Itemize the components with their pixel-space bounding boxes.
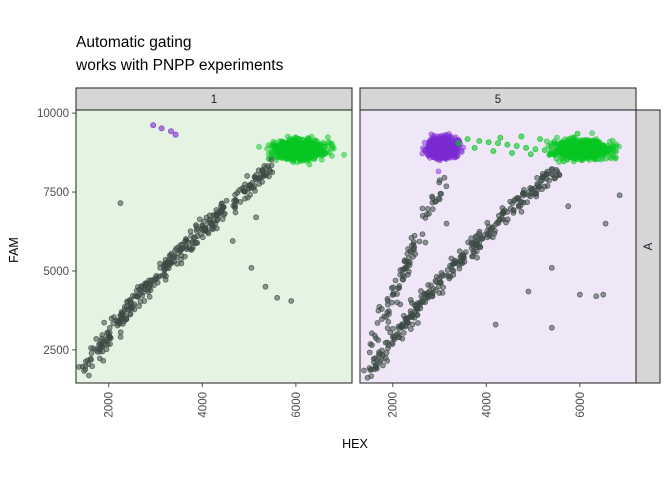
x-tick-label-2000-panel-5: 2000 — [388, 392, 400, 418]
x-tick-label-6000-panel-1: 6000 — [291, 392, 303, 418]
plot-title-line-1: Automatic gating — [76, 34, 191, 51]
y-axis-label: FAM — [7, 237, 21, 263]
facet-strip-label-A: A — [643, 242, 655, 250]
y-tick-label-5000: 5000 — [43, 266, 69, 278]
x-axis-label: HEX — [342, 437, 368, 451]
scatter-plot-figure: Automatic gating works with PNPP experim… — [0, 0, 672, 480]
facet-strip-label-5: 5 — [495, 94, 501, 106]
y-tick-label-7500: 7500 — [43, 187, 69, 199]
facet-strip-label-1: 1 — [211, 94, 217, 106]
y-tick-label-2500: 2500 — [43, 345, 69, 357]
x-tick-label-2000-panel-1: 2000 — [104, 392, 116, 418]
x-tick-label-6000-panel-5: 6000 — [575, 392, 587, 418]
x-tick-label-4000-panel-5: 4000 — [481, 392, 493, 418]
plot-title-line-2: works with PNPP experiments — [75, 57, 284, 74]
y-tick-label-10000: 10000 — [37, 108, 69, 120]
x-tick-label-4000-panel-1: 4000 — [197, 392, 209, 418]
